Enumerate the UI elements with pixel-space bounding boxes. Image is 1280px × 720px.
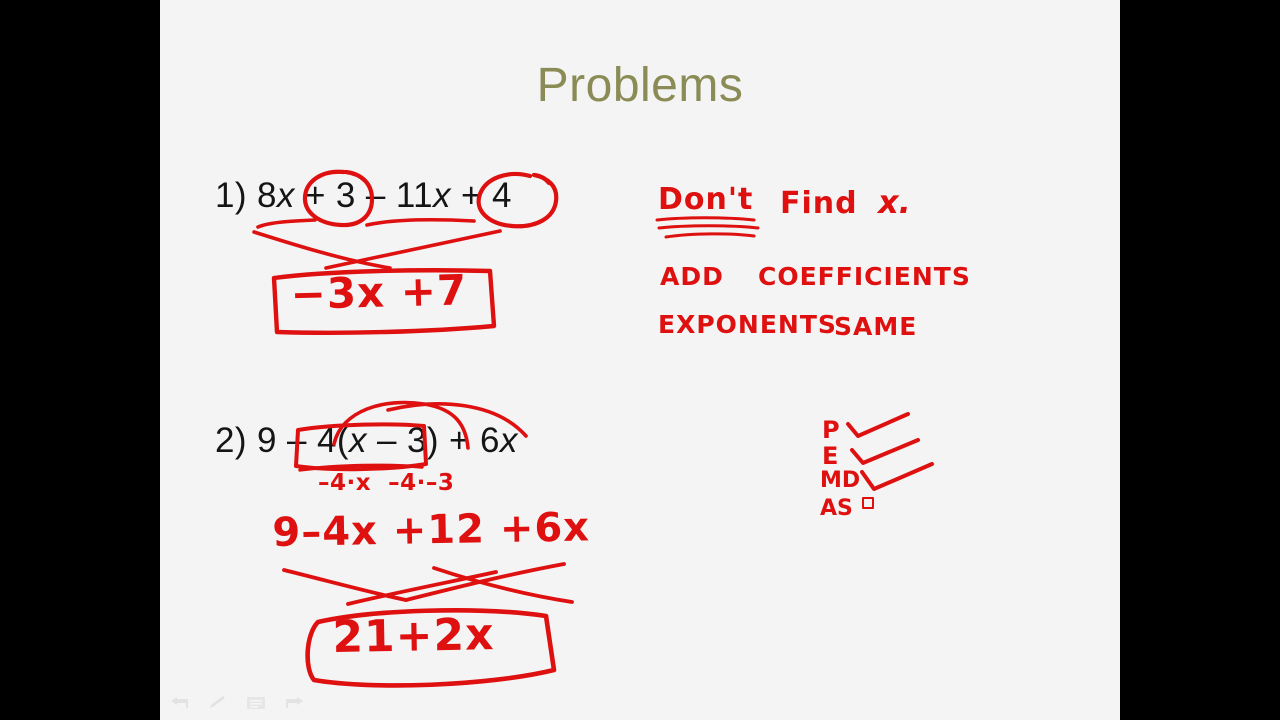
pemdas-check-e-icon	[850, 438, 922, 468]
prev-slide-icon[interactable]	[170, 696, 190, 710]
problem-2-number: 2)	[215, 421, 247, 460]
answer-1-text: −3x +7	[290, 265, 468, 319]
problem-1-part-a: 8x + 3 – 11x + 4	[247, 176, 512, 215]
combine-like-terms-connectors-1	[252, 226, 552, 272]
page-title: Problems	[160, 58, 1120, 113]
rule-exponents-label: EXPONENTS	[658, 310, 837, 339]
underline-term-8x	[256, 218, 318, 232]
pemdas-row-md-label: MD	[820, 468, 860, 493]
problem-2-expression: 2) 9 – 4(x – 3) + 6x	[215, 421, 518, 461]
video-frame: Problems 1) 8x + 3 – 11x + 4 −3x +7	[0, 0, 1280, 720]
problem-1-number: 1)	[215, 176, 247, 215]
combine-like-terms-connectors-2b	[282, 560, 602, 606]
distribute-note: –4·x –4·–3	[318, 470, 454, 496]
letterbox-right	[1120, 0, 1280, 720]
pemdas-row-as-label: AS	[820, 496, 853, 521]
rule-coefficients-label: COEFFICIENTS	[758, 262, 971, 291]
note-variable-x: x.	[878, 183, 911, 221]
rule-add-label: ADD	[660, 262, 724, 291]
pemdas-row-e-label: E	[822, 442, 838, 470]
note-find: Find	[780, 186, 858, 221]
pen-icon[interactable]	[208, 696, 228, 710]
work-line-2: 9–4x +12 +6x	[272, 504, 590, 556]
presentation-toolbar[interactable]	[170, 696, 304, 710]
pemdas-check-md-icon	[860, 462, 936, 494]
menu-icon[interactable]	[246, 696, 266, 710]
rule-same-label: SAME	[834, 312, 917, 341]
problem-2-part-a: 9 – 4(x – 3) + 6x	[247, 421, 518, 460]
answer-2-text: 21+2x	[332, 609, 495, 663]
problem-1-expression: 1) 8x + 3 – 11x + 4	[215, 176, 512, 216]
note-dont-underlines	[654, 216, 764, 242]
underline-term-11x	[366, 216, 476, 230]
pemdas-square-as-icon	[860, 494, 878, 512]
combine-like-terms-connectors-2	[282, 560, 602, 606]
pemdas-row-p-label: P	[822, 416, 840, 444]
slide-canvas: Problems 1) 8x + 3 – 11x + 4 −3x +7	[160, 0, 1120, 720]
note-dont: Don't	[658, 182, 753, 217]
next-slide-icon[interactable]	[284, 696, 304, 710]
pemdas-check-p-icon	[846, 412, 912, 442]
letterbox-left	[0, 0, 160, 720]
